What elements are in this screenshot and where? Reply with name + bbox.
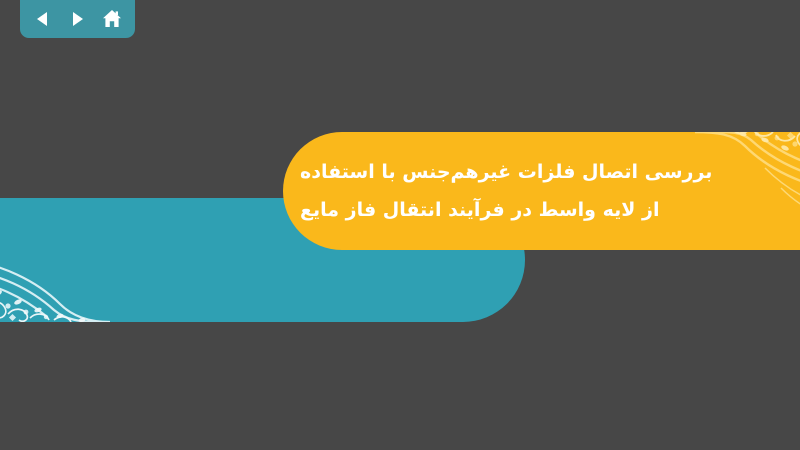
title-line-2: از لایه واسط در فرآیند انتقال فاز مایع [300,191,659,229]
slide-title: بررسی اتصال فلزات غیرهم‌جنس با استفاده ا… [300,132,780,250]
home-icon [101,8,123,30]
teal-arabesque-ornament-icon [0,198,150,322]
home-button[interactable] [99,6,125,32]
next-slide-button[interactable] [64,6,90,32]
previous-slide-button[interactable] [30,6,56,32]
forward-triangle-icon [67,9,87,29]
back-triangle-icon [33,9,53,29]
presentation-slide: بررسی اتصال فلزات غیرهم‌جنس با استفاده ا… [0,0,800,450]
slide-navigation-bar [20,0,135,38]
title-line-1: بررسی اتصال فلزات غیرهم‌جنس با استفاده [300,153,712,191]
